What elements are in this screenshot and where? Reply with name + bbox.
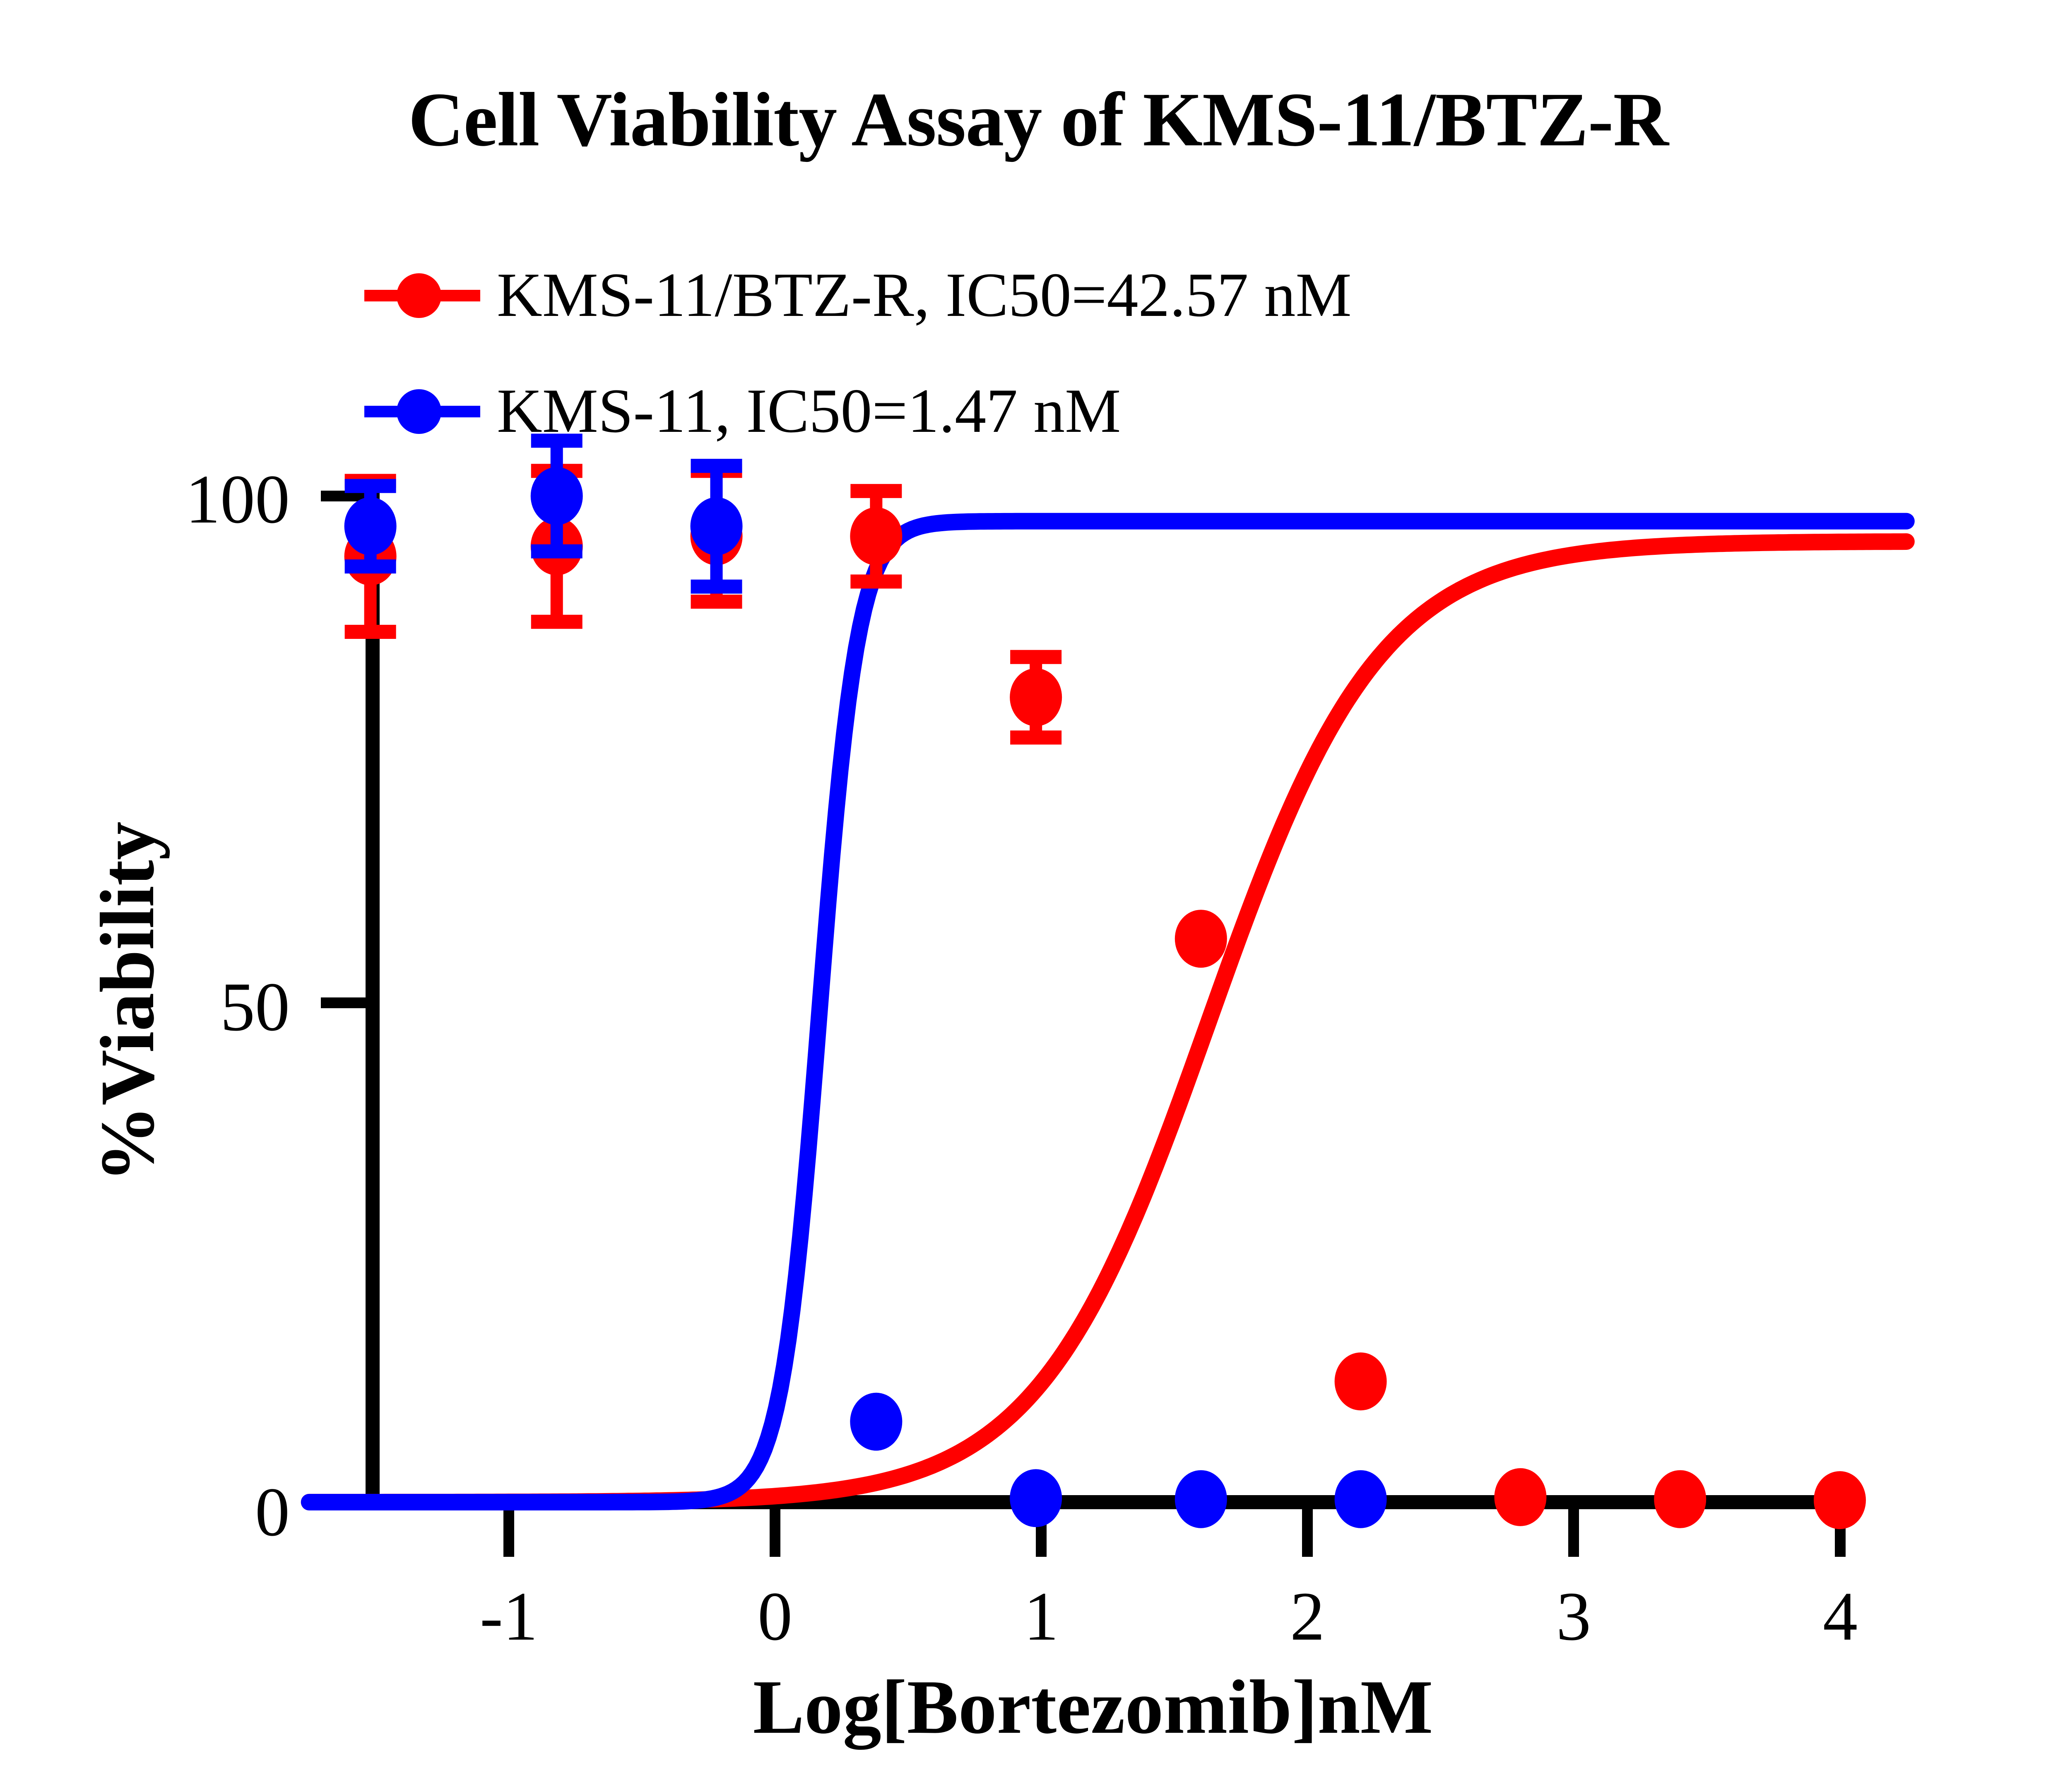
data-point-marker[interactable] [1175,910,1227,968]
x-tick-marks [509,1509,1840,1557]
data-point-marker[interactable] [1010,1469,1062,1527]
data-point-marker[interactable] [1335,1470,1387,1528]
data-point-marker[interactable] [1494,1468,1546,1526]
fit-curve-1 [309,542,1906,1502]
figure-root: Cell Viability Assay of KMS-11/BTZ-R KMS… [0,0,2070,1792]
x-tick-label-2: 2 [1290,1578,1325,1655]
x-axis-title: Log[Bortezomib]nM [753,1664,1433,1750]
series-layer [309,441,1906,1529]
x-tick-label-1: 1 [1024,1578,1059,1655]
x-tick-label-3: 3 [1556,1578,1591,1655]
plot-area: %Viability 100 50 0 -1 0 1 2 3 4 Log[B [0,0,2070,1792]
y-tick-label-100: 100 [185,461,290,538]
data-point-marker[interactable] [850,1393,902,1451]
data-point-marker[interactable] [691,497,743,555]
data-point-marker[interactable] [1814,1471,1866,1529]
data-point-marker[interactable] [344,497,397,555]
y-tick-label-0: 0 [255,1474,290,1551]
data-point-marker[interactable] [1010,668,1062,726]
data-point-marker[interactable] [850,507,902,565]
data-point-marker[interactable] [1654,1470,1706,1528]
x-tick-label-0: 0 [758,1578,792,1655]
series-1-points [344,471,1866,1529]
data-point-marker[interactable] [1175,1470,1227,1528]
y-axis-title: %Viability [85,821,170,1183]
x-tick-label--1: -1 [480,1578,538,1655]
y-tick-label-50: 50 [220,968,290,1045]
data-point-marker[interactable] [1335,1352,1387,1410]
fit-curve-2 [309,521,1906,1502]
x-tick-label-4: 4 [1823,1578,1858,1655]
data-point-marker[interactable] [531,467,583,525]
